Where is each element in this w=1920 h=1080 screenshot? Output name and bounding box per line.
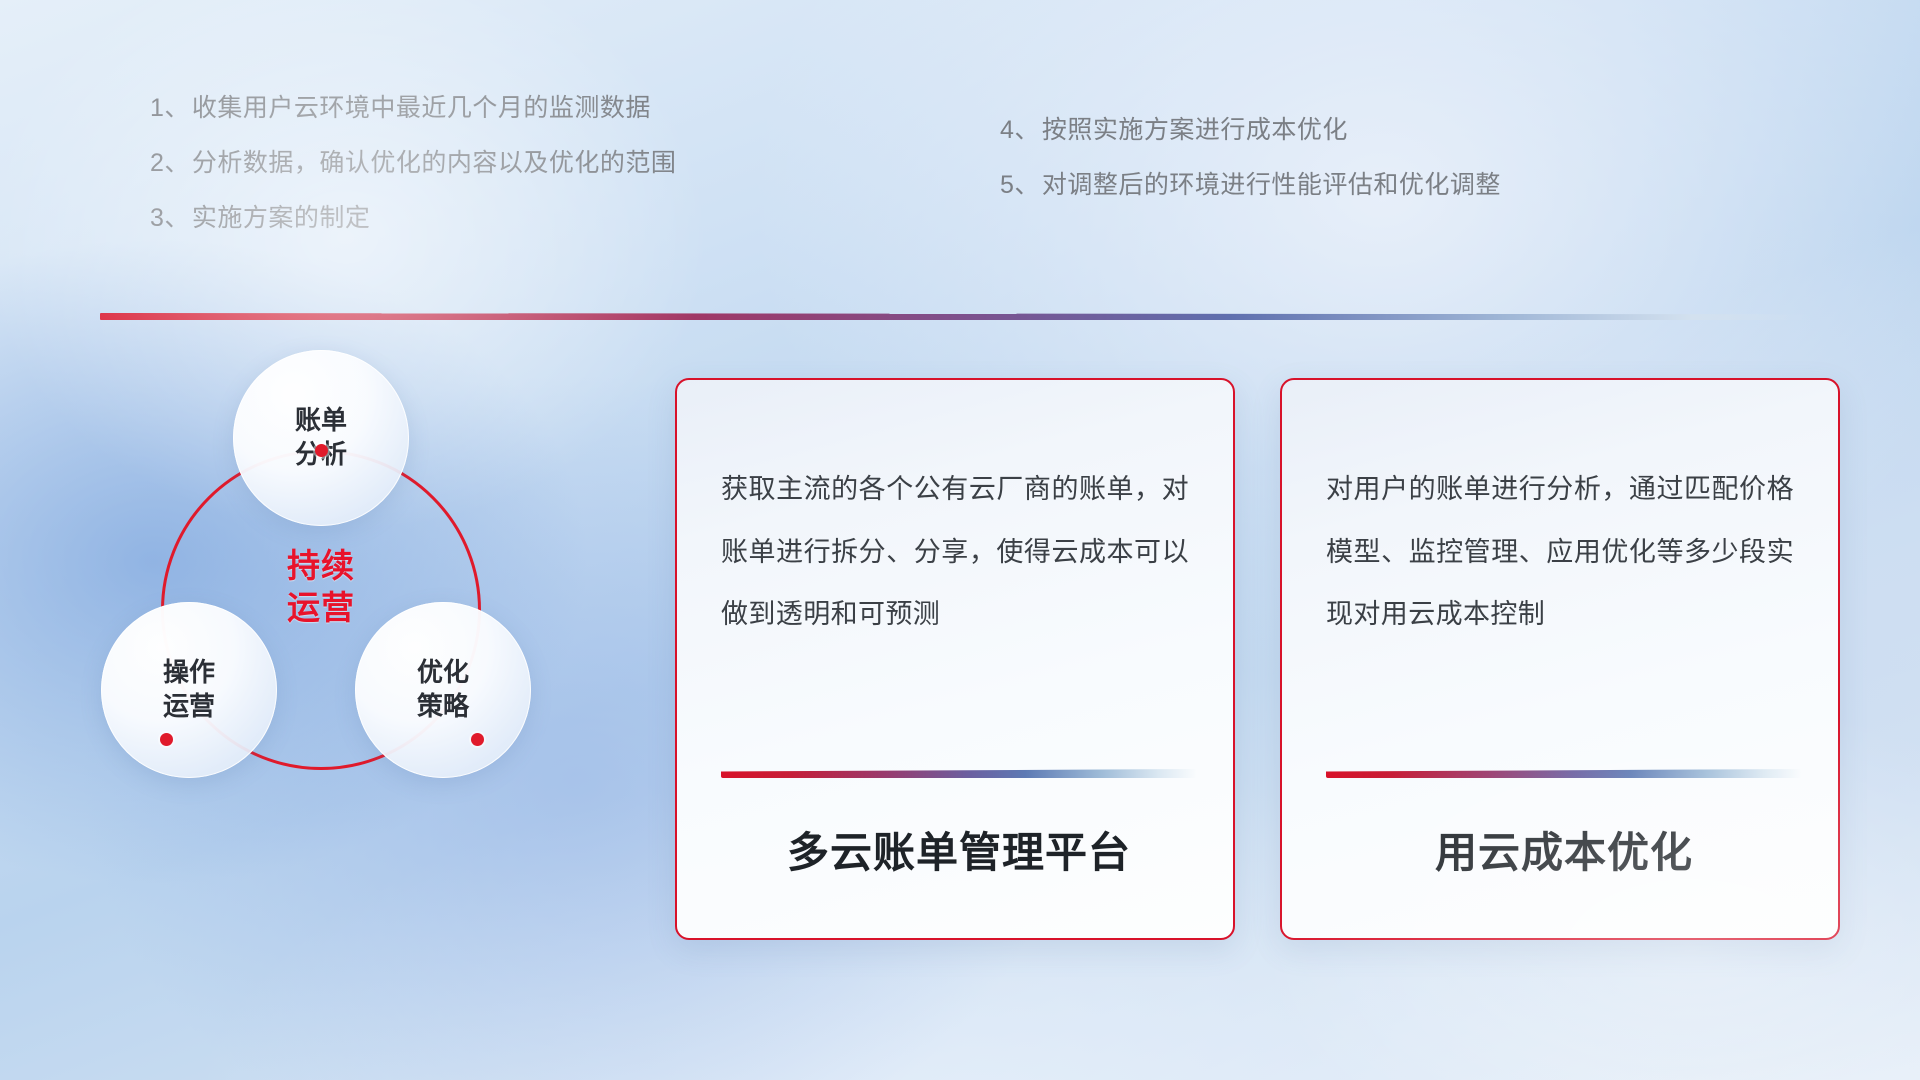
- slide-canvas: 1、 收集用户云环境中最近几个月的监测数据 2、 分析数据，确认优化的内容以及优…: [0, 0, 1920, 1080]
- feature-card-multicloud-billing[interactable]: 获取主流的各个公有云厂商的账单，对账单进行拆分、分享，使得云成本可以做到透明和可…: [675, 378, 1235, 940]
- diagram-node-dot-right: [471, 733, 484, 746]
- list-item: 3、 实施方案的制定: [150, 206, 870, 231]
- feature-card-title: 多云账单管理平台: [721, 819, 1197, 880]
- feature-card-divider: [721, 769, 1197, 778]
- list-item: 5、 对调整后的环境进行性能评估和优化调整: [1000, 173, 1760, 198]
- diagram-center-label: 持续 运营: [251, 545, 391, 628]
- feature-card-body: 获取主流的各个公有云厂商的账单，对账单进行拆分、分享，使得云成本可以做到透明和可…: [677, 380, 1233, 646]
- diagram-node-optimization-strategy[interactable]: 优化 策略: [355, 602, 531, 778]
- feature-card-title: 用云成本优化: [1326, 819, 1802, 880]
- list-item: 2、 分析数据，确认优化的内容以及优化的范围: [150, 151, 870, 176]
- list-item: 1、 收集用户云环境中最近几个月的监测数据: [150, 96, 870, 121]
- diagram-node-label-line1: 优化: [417, 656, 469, 690]
- steps-list-left: 1、 收集用户云环境中最近几个月的监测数据 2、 分析数据，确认优化的内容以及优…: [150, 96, 870, 261]
- diagram-node-bill-analysis[interactable]: 账单 分析: [233, 350, 409, 526]
- list-item-label: 收集用户云环境中最近几个月的监测数据: [192, 96, 651, 121]
- list-item-label: 分析数据，确认优化的内容以及优化的范围: [192, 151, 677, 176]
- list-item-label: 实施方案的制定: [192, 206, 371, 231]
- diagram-node-operations[interactable]: 操作 运营: [101, 602, 277, 778]
- list-item-label: 对调整后的环境进行性能评估和优化调整: [1042, 173, 1501, 198]
- list-item-number: 5、: [1000, 173, 1040, 198]
- diagram-node-dot-left: [160, 733, 173, 746]
- list-item-number: 4、: [1000, 118, 1040, 143]
- diagram-center-label-line1: 持续: [251, 545, 391, 587]
- diagram-node-label-line1: 账单: [295, 404, 347, 438]
- diagram-node-label-line2: 策略: [417, 690, 469, 724]
- list-item-number: 3、: [150, 206, 190, 231]
- list-item-number: 1、: [150, 96, 190, 121]
- diagram-node-label-line2: 运营: [163, 690, 215, 724]
- diagram-node-label-line1: 操作: [163, 656, 215, 690]
- feature-card-body: 对用户的账单进行分析，通过匹配价格模型、监控管理、应用优化等多少段实现对用云成本…: [1282, 380, 1838, 646]
- header-divider-rule: [100, 313, 1812, 320]
- feature-card-cost-optimization[interactable]: 对用户的账单进行分析，通过匹配价格模型、监控管理、应用优化等多少段实现对用云成本…: [1280, 378, 1840, 940]
- list-item-label: 按照实施方案进行成本优化: [1042, 118, 1348, 143]
- list-item: 4、 按照实施方案进行成本优化: [1000, 118, 1760, 143]
- feature-card-divider: [1326, 769, 1802, 778]
- continuous-operation-diagram: 账单 分析 操作 运营 优化 策略 持续 运营: [100, 350, 620, 910]
- diagram-node-dot-top: [315, 444, 328, 457]
- list-item-number: 2、: [150, 151, 190, 176]
- steps-list-right: 4、 按照实施方案进行成本优化 5、 对调整后的环境进行性能评估和优化调整: [1000, 118, 1760, 228]
- diagram-center-label-line2: 运营: [251, 587, 391, 629]
